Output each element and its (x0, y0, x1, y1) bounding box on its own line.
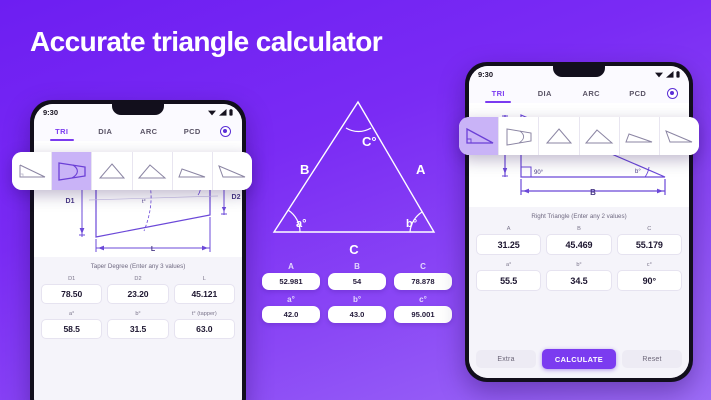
signal-icon (219, 109, 227, 116)
field-label: A (262, 262, 320, 271)
shape-option-right-triangle[interactable] (459, 117, 499, 155)
center-field-angle-c[interactable]: c° 95.001 (394, 295, 452, 323)
center-field-angle-a[interactable]: a° 42.0 (262, 295, 320, 323)
side-bottom-label: C (349, 242, 359, 257)
shape-option-isosceles[interactable] (133, 152, 173, 190)
shape-option-obtuse[interactable] (660, 117, 699, 155)
field-label: b° (328, 295, 386, 304)
settings-button[interactable] (214, 126, 236, 137)
tab-tri[interactable]: TRI (475, 83, 522, 103)
tab-dia[interactable]: DIA (522, 83, 569, 103)
field-value[interactable]: 42.0 (262, 306, 320, 323)
gear-icon (667, 88, 678, 99)
center-field-angle-b[interactable]: b° 43.0 (328, 295, 386, 323)
field-value[interactable]: 31.25 (476, 234, 541, 255)
field-value[interactable]: 58.5 (41, 319, 102, 339)
shape-option-scalene[interactable] (173, 152, 213, 190)
svg-text:L: L (151, 246, 156, 253)
tab-pcd[interactable]: PCD (171, 121, 215, 141)
field-value[interactable]: 55.179 (617, 234, 682, 255)
field-taper[interactable]: t° (tapper) 63.0 (174, 311, 235, 339)
phone-notch (112, 104, 164, 115)
status-time: 9:30 (43, 108, 58, 117)
tab-pcd[interactable]: PCD (615, 83, 662, 103)
field-label: a° (476, 262, 541, 268)
status-icons (655, 71, 680, 78)
shape-option-equilateral[interactable] (92, 152, 132, 190)
shape-selector-right[interactable] (459, 117, 699, 155)
shape-option-taper[interactable] (52, 152, 92, 190)
tab-tri[interactable]: TRI (40, 121, 84, 141)
phone-notch (553, 66, 605, 77)
results-title: Taper Degree (Enter any 3 values) (41, 263, 235, 270)
field-label: a° (41, 311, 102, 317)
field-label: c° (394, 295, 452, 304)
tab-dia[interactable]: DIA (84, 121, 128, 141)
results-title: Right Triangle (Enter any 2 values) (476, 213, 682, 220)
shape-option-isosceles[interactable] (580, 117, 620, 155)
field-label: B (546, 226, 611, 232)
shape-selector-left[interactable] (12, 152, 252, 190)
tab-arc[interactable]: ARC (568, 83, 615, 103)
field-d2[interactable]: D2 23.20 (107, 276, 168, 304)
field-value[interactable]: 78.50 (41, 284, 102, 304)
signal-icon (666, 71, 674, 78)
shape-option-right-triangle[interactable] (12, 152, 52, 190)
side-left-label: B (300, 162, 309, 177)
field-label: t° (tapper) (174, 311, 235, 317)
reset-button[interactable]: Reset (622, 350, 682, 368)
angle-left-label: a° (296, 218, 307, 230)
svg-text:B: B (590, 188, 596, 197)
field-label: C (617, 226, 682, 232)
svg-text:D1: D1 (66, 198, 75, 205)
field-row: a° 42.0 b° 43.0 c° 95.001 (262, 295, 452, 323)
field-label: b° (107, 311, 168, 317)
phone-right-screen: 9:30 TRI DIA ARC PCD (469, 66, 689, 378)
field-label: D1 (41, 276, 102, 282)
field-label: c° (617, 262, 682, 268)
field-angle-b[interactable]: b° 31.5 (107, 311, 168, 339)
center-field-a[interactable]: A 52.981 (262, 262, 320, 290)
field-row: D1 78.50 D2 23.20 L 45.121 (41, 276, 235, 304)
svg-text:b°: b° (635, 169, 641, 175)
angle-top-label: C° (362, 134, 377, 149)
field-d1[interactable]: D1 78.50 (41, 276, 102, 304)
promo-banner: Accurate triangle calculator 9:30 TRI DI… (0, 0, 711, 400)
phone-mockup-right: 9:30 TRI DIA ARC PCD (465, 62, 693, 382)
field-value[interactable]: 54 (328, 273, 386, 290)
field-label: b° (546, 262, 611, 268)
phone-left-screen: 9:30 TRI DIA ARC PCD (34, 104, 242, 400)
center-field-group: A 52.981 B 54 C 78.878 a° 42.0 b° 43.0 c (262, 262, 452, 328)
action-buttons: Extra CALCULATE Reset (476, 349, 682, 374)
battery-icon (676, 71, 680, 78)
field-label: C (394, 262, 452, 271)
field-label: a° (262, 295, 320, 304)
shape-option-taper[interactable] (499, 117, 539, 155)
field-label: L (174, 276, 235, 282)
field-value[interactable]: 95.001 (394, 306, 452, 323)
field-angle-b[interactable]: b° 34.5 (546, 262, 611, 291)
field-c[interactable]: C 55.179 (617, 226, 682, 255)
shape-option-obtuse[interactable] (213, 152, 252, 190)
field-row: a° 55.5 b° 34.5 c° 90° (476, 262, 682, 291)
field-label: D2 (107, 276, 168, 282)
side-right-label: A (416, 162, 426, 177)
field-value[interactable]: 78.878 (394, 273, 452, 290)
field-a[interactable]: A 31.25 (476, 226, 541, 255)
wifi-icon (208, 109, 216, 116)
center-field-c[interactable]: C 78.878 (394, 262, 452, 290)
field-value[interactable]: 34.5 (546, 270, 611, 291)
shape-option-equilateral[interactable] (539, 117, 579, 155)
field-value[interactable]: 63.0 (174, 319, 235, 339)
center-field-b[interactable]: B 54 (328, 262, 386, 290)
tab-bar-left: TRI DIA ARC PCD (34, 121, 242, 141)
tab-bar-right: TRI DIA ARC PCD (469, 83, 689, 103)
svg-text:D2: D2 (232, 194, 241, 201)
field-angle-a[interactable]: a° 58.5 (41, 311, 102, 339)
field-row: a° 58.5 b° 31.5 t° (tapper) 63.0 (41, 311, 235, 339)
calculate-button[interactable]: CALCULATE (542, 349, 616, 369)
svg-text:90°: 90° (534, 170, 544, 176)
shape-option-scalene[interactable] (620, 117, 660, 155)
field-value[interactable]: 43.0 (328, 306, 386, 323)
field-label: A (476, 226, 541, 232)
field-angle-c[interactable]: c° 90° (617, 262, 682, 291)
field-value[interactable]: 55.5 (476, 270, 541, 291)
settings-button[interactable] (661, 88, 683, 99)
tab-arc[interactable]: ARC (127, 121, 171, 141)
field-value[interactable]: 90° (617, 270, 682, 291)
field-angle-a[interactable]: a° 55.5 (476, 262, 541, 291)
field-l[interactable]: L 45.121 (174, 276, 235, 304)
field-label: B (328, 262, 386, 271)
status-icons (208, 109, 233, 116)
gear-icon (220, 126, 231, 137)
results-panel-left: Taper Degree (Enter any 3 values) D1 78.… (34, 257, 242, 400)
status-time: 9:30 (478, 70, 493, 79)
field-value[interactable]: 45.469 (546, 234, 611, 255)
field-value[interactable]: 52.981 (262, 273, 320, 290)
field-value[interactable]: 45.121 (174, 284, 235, 304)
wifi-icon (655, 71, 663, 78)
field-b[interactable]: B 45.469 (546, 226, 611, 255)
page-title: Accurate triangle calculator (30, 26, 382, 58)
field-row: A 31.25 B 45.469 C 55.179 (476, 226, 682, 255)
svg-text:t°: t° (142, 199, 146, 205)
phone-mockup-left: 9:30 TRI DIA ARC PCD (30, 100, 246, 400)
battery-icon (229, 109, 233, 116)
field-value[interactable]: 23.20 (107, 284, 168, 304)
field-row: A 52.981 B 54 C 78.878 (262, 262, 452, 290)
field-value[interactable]: 31.5 (107, 319, 168, 339)
triangle-diagram: C° B A C a° b° (258, 88, 454, 260)
angle-right-label: b° (406, 218, 417, 230)
results-panel-right: Right Triangle (Enter any 2 values) A 31… (469, 207, 689, 378)
extra-button[interactable]: Extra (476, 350, 536, 368)
